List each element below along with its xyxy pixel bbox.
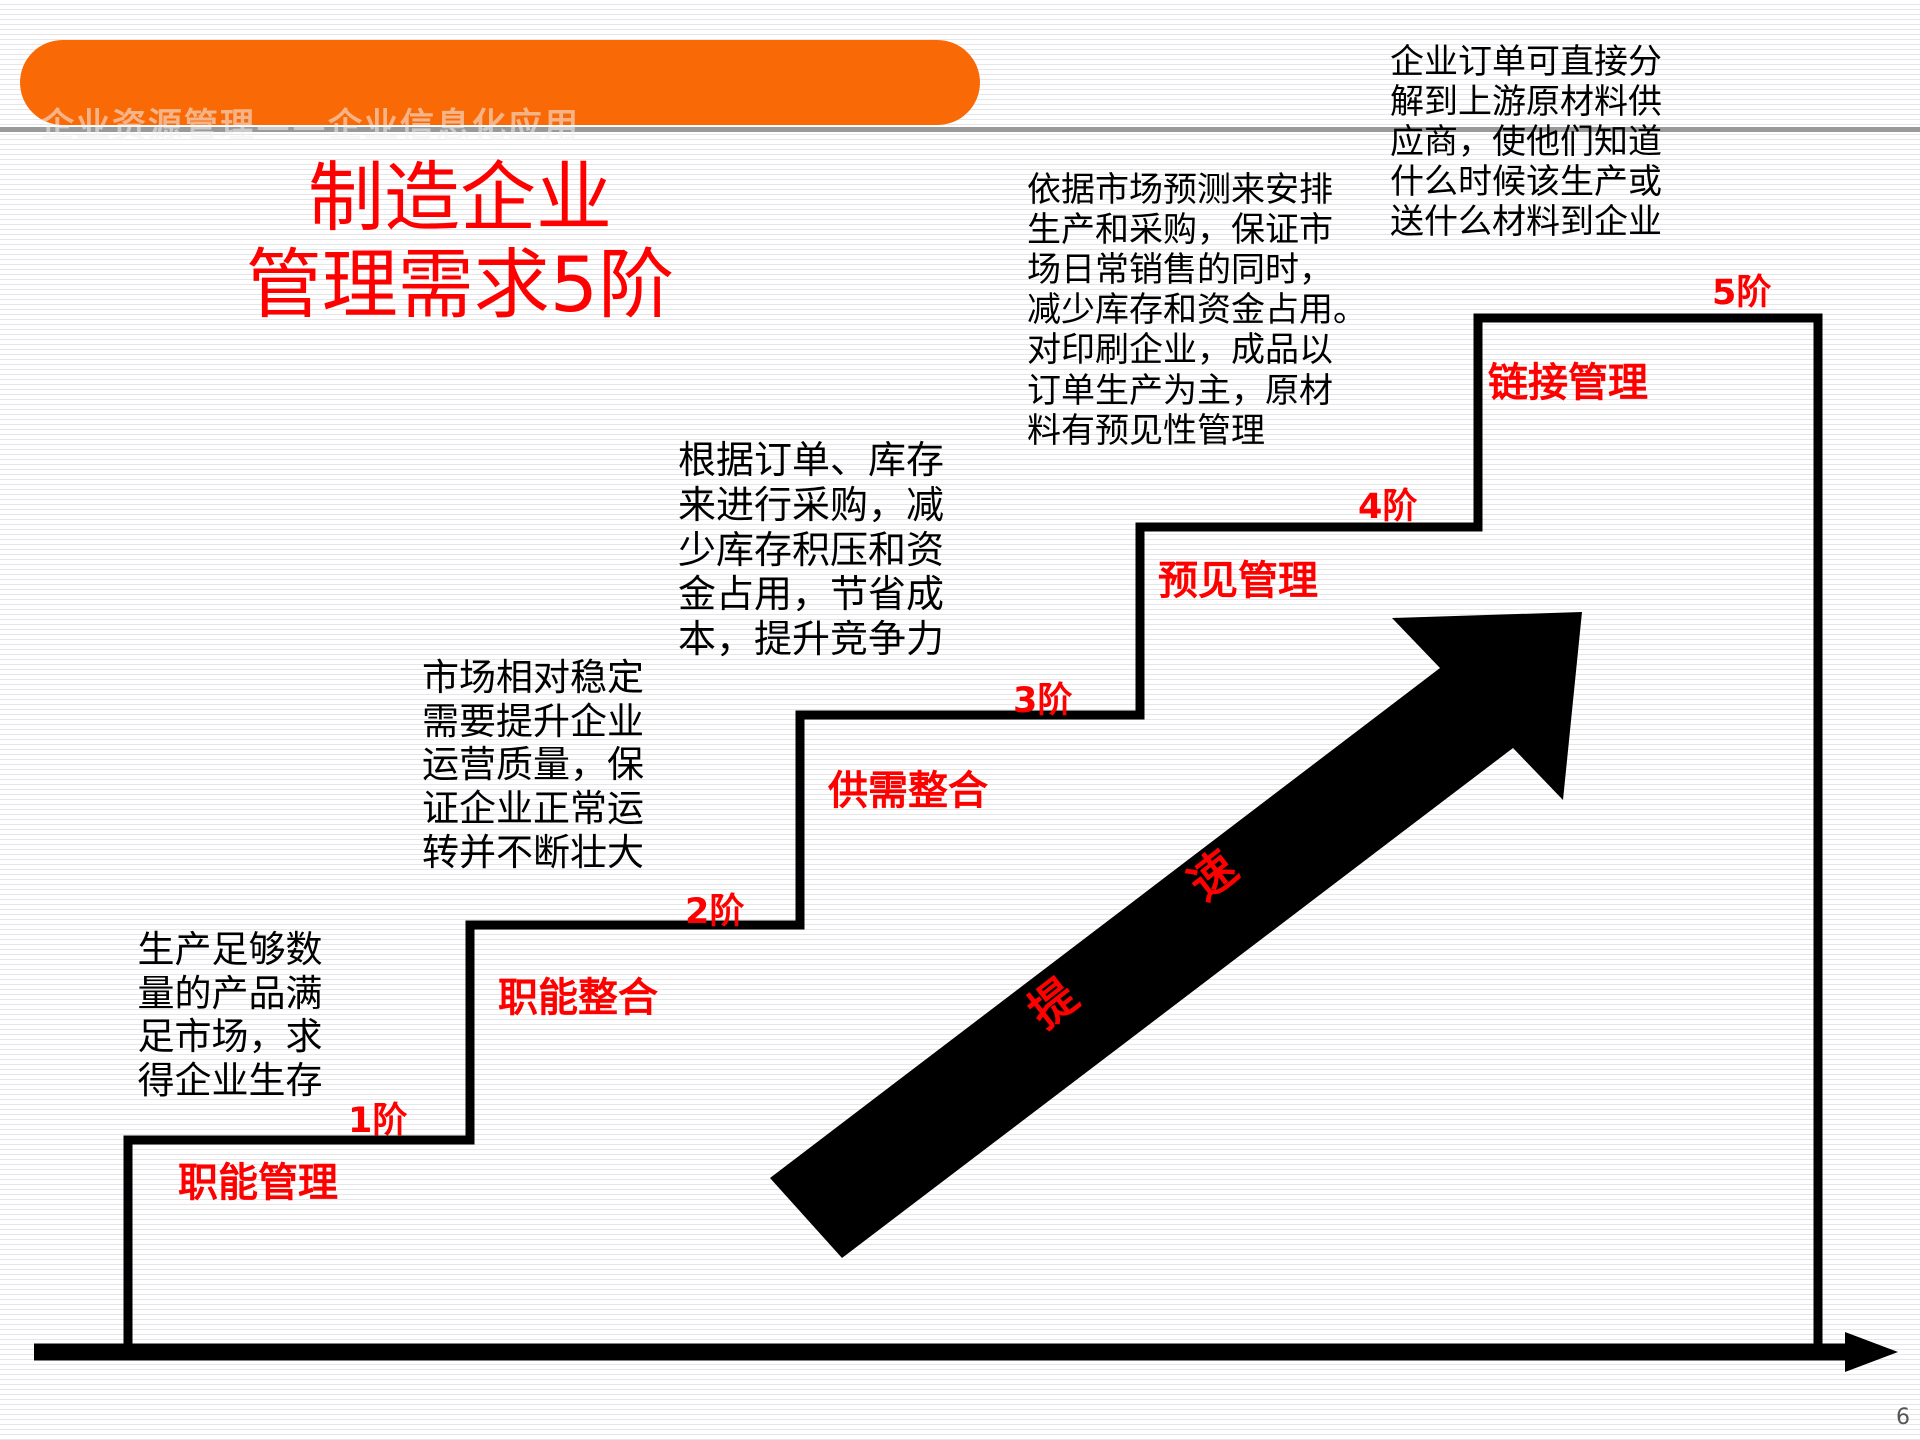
stage-2-number: 2阶 bbox=[685, 883, 744, 934]
stage-5-description: 企业订单可直接分 解到上游原材料供 应商，使他们知道 什么时候该生产或 送什么材… bbox=[1390, 42, 1710, 243]
stage-1-number: 1阶 bbox=[348, 1092, 407, 1143]
stage-2-description: 市场相对稳定 需要提升企业 运营质量，保 证企业正常运 转并不断壮大 bbox=[388, 656, 678, 874]
stage-2-name: 职能整合 bbox=[498, 965, 658, 1023]
stage-1-name: 职能管理 bbox=[178, 1150, 338, 1208]
stage-4-description: 依据市场预测来安排 生产和采购，保证市 场日常销售的同时， 减少库存和资金占用。… bbox=[1027, 170, 1387, 451]
slide-page-number: 6 bbox=[1896, 1405, 1910, 1430]
stage-4-number: 4阶 bbox=[1358, 478, 1417, 529]
stage-1-description: 生产足够数 量的产品满 足市场，求 得企业生存 bbox=[100, 928, 360, 1103]
stage-5-number: 5阶 bbox=[1712, 264, 1771, 315]
page-title: 制造企业 管理需求5阶 bbox=[180, 155, 740, 328]
stage-4-name: 预见管理 bbox=[1158, 548, 1318, 606]
page-title-line2: 管理需求5阶 bbox=[180, 242, 740, 329]
stage-3-name: 供需整合 bbox=[828, 758, 988, 816]
base-axis-arrowhead bbox=[1845, 1332, 1898, 1372]
growth-arrow bbox=[770, 612, 1582, 1258]
stage-3-description: 根据订单、库存 来进行采购，减 少库存积压和资 金占用，节省成 本，提升竞争力 bbox=[678, 438, 998, 662]
page-title-line1: 制造企业 bbox=[180, 155, 740, 242]
slide-canvas: 企业资源管理——企业信息化应用 制造企业 管理需求5阶 提 速 生产足够数 量的… bbox=[0, 0, 1920, 1440]
stage-3-number: 3阶 bbox=[1013, 672, 1072, 723]
stage-5-name: 链接管理 bbox=[1488, 350, 1648, 408]
